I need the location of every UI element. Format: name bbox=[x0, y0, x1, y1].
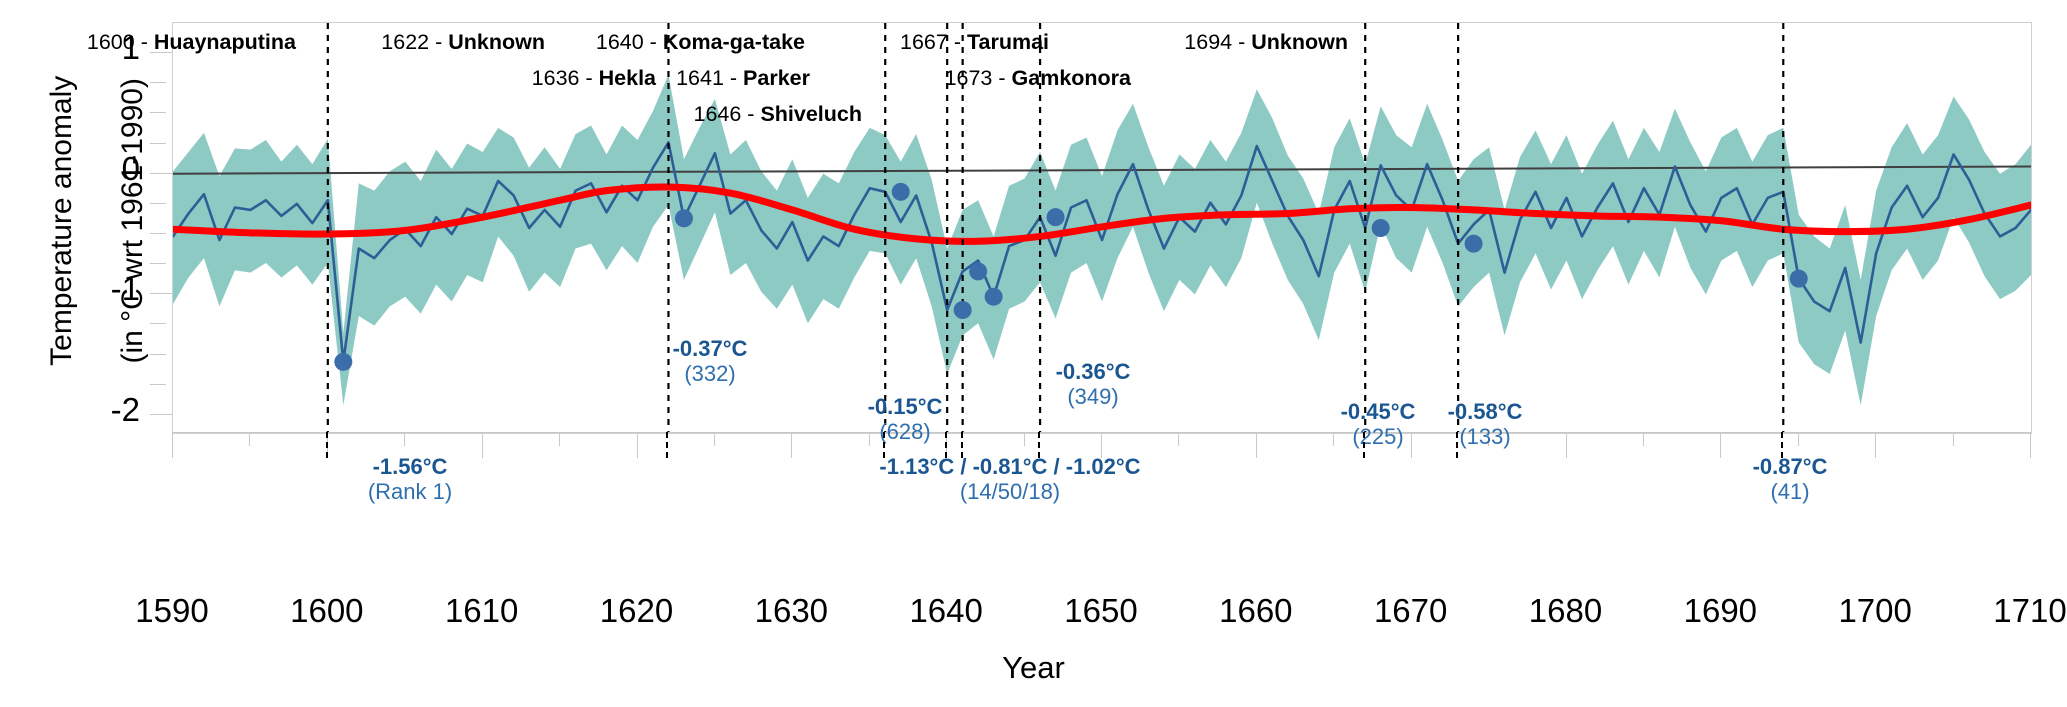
x-tick-label: 1690 bbox=[1640, 592, 1800, 630]
event-line-extension bbox=[945, 432, 947, 458]
x-tick-mark bbox=[482, 432, 483, 458]
value-label-rank: (628) bbox=[868, 420, 943, 445]
event-label-separator: - bbox=[644, 30, 663, 54]
x-tick-label: 1710 bbox=[1950, 592, 2067, 630]
x-tick-label: 1610 bbox=[402, 592, 562, 630]
y-tick-label: -2 bbox=[20, 391, 140, 429]
event-label-hekla: 1636 - Hekla bbox=[532, 66, 656, 91]
y-minor-tick-mark bbox=[150, 143, 166, 144]
value-label-temp: -0.58°C bbox=[1448, 400, 1523, 425]
x-tick-mark bbox=[1875, 432, 1876, 458]
y-minor-tick-mark bbox=[150, 112, 166, 113]
x-tick-label: 1700 bbox=[1795, 592, 1955, 630]
event-label-name: Koma-ga-take bbox=[663, 30, 805, 54]
x-tick-mark bbox=[1720, 432, 1721, 458]
event-label-separator: - bbox=[580, 66, 599, 90]
event-label-tarumai: 1667 - Tarumai bbox=[900, 30, 1049, 55]
event-label-shiveluch: 1646 - Shiveluch bbox=[693, 102, 862, 127]
value-label-rank: (225) bbox=[1341, 425, 1416, 450]
x-minor-tick-mark bbox=[404, 432, 405, 446]
event-label-gamkonora: 1673 - Gamkonora bbox=[945, 66, 1131, 91]
event-label-separator: - bbox=[741, 102, 760, 126]
y-tick-label: -1 bbox=[20, 270, 140, 308]
event-label-name: Shiveluch bbox=[760, 102, 862, 126]
value-label-cluster-1640-1643: -1.13°C / -0.81°C / -1.02°C(14/50/18) bbox=[879, 455, 1140, 504]
x-axis-title: Year bbox=[0, 650, 2067, 686]
x-tick-mark bbox=[637, 432, 638, 458]
value-label-rank: (14/50/18) bbox=[879, 480, 1140, 505]
event-label-unknown: 1694 - Unknown bbox=[1184, 30, 1348, 55]
y-tick-mark bbox=[150, 293, 172, 294]
x-tick-label: 1590 bbox=[92, 592, 252, 630]
event-label-separator: - bbox=[948, 30, 967, 54]
event-label-name: Tarumai bbox=[967, 30, 1049, 54]
x-minor-tick-mark bbox=[1178, 432, 1179, 446]
x-tick-label: 1600 bbox=[247, 592, 407, 630]
event-label-separator: - bbox=[1232, 30, 1251, 54]
event-label-koma-ga-take: 1640 - Koma-ga-take bbox=[596, 30, 805, 55]
value-label-1622: -0.37°C(332) bbox=[673, 337, 748, 386]
value-label-temp: -1.13°C / -0.81°C / -1.02°C bbox=[879, 455, 1140, 480]
value-label-temp: -0.37°C bbox=[673, 337, 748, 362]
y-minor-tick-mark bbox=[150, 233, 166, 234]
event-label-year: 1636 bbox=[532, 66, 580, 90]
value-label-rank: (349) bbox=[1056, 385, 1131, 410]
value-label-rank: (Rank 1) bbox=[368, 480, 452, 505]
y-minor-tick-mark bbox=[150, 354, 166, 355]
y-minor-tick-mark bbox=[150, 384, 166, 385]
y-minor-tick-mark bbox=[150, 323, 166, 324]
event-line-extension bbox=[1781, 432, 1783, 458]
event-label-name: Unknown bbox=[1251, 30, 1348, 54]
value-label-1694: -0.87°C(41) bbox=[1753, 455, 1828, 504]
x-minor-tick-mark bbox=[1798, 432, 1799, 446]
event-label-name: Unknown bbox=[448, 30, 545, 54]
value-label-1673: -0.58°C(133) bbox=[1448, 400, 1523, 449]
value-label-temp: -0.36°C bbox=[1056, 360, 1131, 385]
x-tick-mark bbox=[2030, 432, 2031, 458]
chart-figure: Temperature anomaly (in °C wrt 1961-1990… bbox=[0, 0, 2067, 707]
x-tick-label: 1680 bbox=[1486, 592, 1646, 630]
value-label-temp: -0.45°C bbox=[1341, 400, 1416, 425]
event-label-name: Hekla bbox=[599, 66, 656, 90]
x-minor-tick-mark bbox=[714, 432, 715, 446]
y-tick-label: 0 bbox=[20, 150, 140, 188]
y-axis-title-line1: Temperature anomaly bbox=[46, 76, 79, 366]
y-axis-title: Temperature anomaly (in °C wrt 1961-1990… bbox=[9, 0, 151, 451]
event-line-extension bbox=[666, 432, 668, 458]
event-label-separator: - bbox=[135, 30, 154, 54]
value-label-temp: -0.87°C bbox=[1753, 455, 1828, 480]
event-label-name: Parker bbox=[743, 66, 810, 90]
value-label-temp: -1.56°C bbox=[368, 455, 452, 480]
x-tick-label: 1650 bbox=[1021, 592, 1181, 630]
event-line-extension bbox=[1038, 432, 1040, 458]
x-tick-label: 1640 bbox=[866, 592, 1026, 630]
x-tick-label: 1630 bbox=[711, 592, 871, 630]
y-tick-mark bbox=[150, 414, 172, 415]
y-axis-title-line2: (in °C wrt 1961-1990) bbox=[116, 78, 149, 363]
event-label-huaynaputina: 1600 - Huaynaputina bbox=[87, 30, 296, 55]
event-line-extension bbox=[883, 432, 885, 458]
event-line-extension bbox=[1456, 432, 1458, 458]
x-tick-mark bbox=[1256, 432, 1257, 458]
x-tick-mark bbox=[1566, 432, 1567, 458]
y-tick-mark bbox=[150, 173, 172, 174]
value-label-huaynaputina: -1.56°C(Rank 1) bbox=[368, 455, 452, 504]
event-label-year: 1694 bbox=[1184, 30, 1232, 54]
event-label-year: 1640 bbox=[596, 30, 644, 54]
event-label-year: 1673 bbox=[945, 66, 993, 90]
y-minor-tick-mark bbox=[150, 82, 166, 83]
event-line-extension bbox=[326, 432, 328, 458]
x-tick-label: 1620 bbox=[557, 592, 717, 630]
event-label-year: 1667 bbox=[900, 30, 948, 54]
y-minor-tick-mark bbox=[150, 263, 166, 264]
event-line-extension bbox=[1363, 432, 1365, 458]
event-label-name: Gamkonora bbox=[1012, 66, 1131, 90]
event-label-parker: 1641 - Parker bbox=[676, 66, 810, 91]
event-label-year: 1641 bbox=[676, 66, 724, 90]
event-label-separator: - bbox=[724, 66, 743, 90]
event-label-year: 1646 bbox=[693, 102, 741, 126]
event-label-unknown: 1622 - Unknown bbox=[381, 30, 545, 55]
value-label-rank: (133) bbox=[1448, 425, 1523, 450]
value-label-rank: (41) bbox=[1753, 480, 1828, 505]
x-tick-mark bbox=[791, 432, 792, 458]
x-minor-tick-mark bbox=[1953, 432, 1954, 446]
event-line-extension bbox=[961, 432, 963, 458]
event-label-name: Huaynaputina bbox=[154, 30, 296, 54]
x-minor-tick-mark bbox=[249, 432, 250, 446]
event-label-year: 1622 bbox=[381, 30, 429, 54]
x-tick-mark bbox=[172, 432, 173, 458]
value-label-temp: -0.15°C bbox=[868, 395, 943, 420]
x-tick-label: 1660 bbox=[1176, 592, 1336, 630]
y-minor-tick-mark bbox=[150, 203, 166, 204]
event-label-separator: - bbox=[992, 66, 1011, 90]
x-minor-tick-mark bbox=[559, 432, 560, 446]
value-label-rank: (332) bbox=[673, 362, 748, 387]
x-tick-label: 1670 bbox=[1331, 592, 1491, 630]
x-minor-tick-mark bbox=[1643, 432, 1644, 446]
value-label-1667: -0.45°C(225) bbox=[1341, 400, 1416, 449]
event-label-separator: - bbox=[429, 30, 448, 54]
value-label-1636: -0.15°C(628) bbox=[868, 395, 943, 444]
value-label-1646: -0.36°C(349) bbox=[1056, 360, 1131, 409]
event-label-year: 1600 bbox=[87, 30, 135, 54]
x-minor-tick-mark bbox=[1024, 432, 1025, 446]
x-minor-tick-mark bbox=[1333, 432, 1334, 446]
